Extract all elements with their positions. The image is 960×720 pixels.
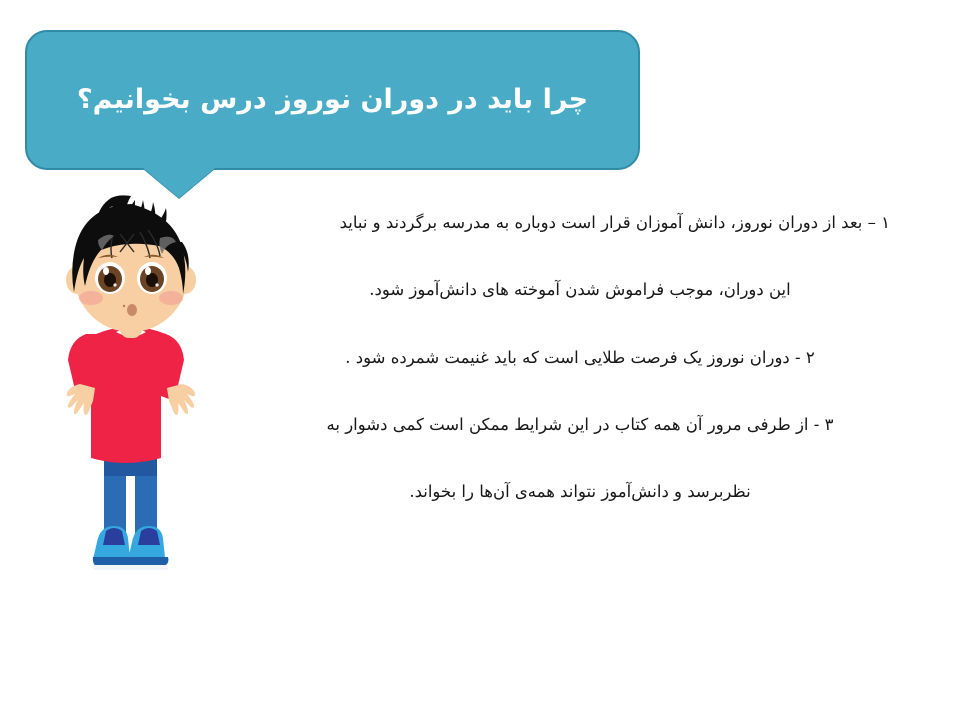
shoes-group (93, 526, 169, 570)
head-group (66, 195, 196, 332)
mouth (127, 304, 137, 316)
text-line: ۳ - از طرفی مرور آن همه کتاب در این شرای… (270, 414, 890, 436)
text-line: ۲ - دوران نوروز یک فرصت طلایی است که بای… (270, 347, 890, 369)
cartoon-boy-illustration (36, 186, 226, 596)
speech-bubble-body: چرا باید در دوران نوروز درس بخوانیم؟ (25, 30, 640, 170)
body-text-block: ۱ – بعد از دوران نوروز، دانش آموزان قرار… (270, 212, 890, 503)
text-line: نظربرسد و دانش‌آموز نتواند همه‌ی آن‌ها ر… (270, 481, 890, 503)
page-title: چرا باید در دوران نوروز درس بخوانیم؟ (51, 82, 614, 117)
text-line: ۱ – بعد از دوران نوروز، دانش آموزان قرار… (270, 212, 890, 234)
speech-bubble: چرا باید در دوران نوروز درس بخوانیم؟ (25, 30, 640, 170)
cheek-left (79, 291, 103, 305)
slide-canvas: چرا باید در دوران نوروز درس بخوانیم؟ (0, 0, 960, 720)
cheek-right (159, 291, 183, 305)
text-line: این دوران، موجب فراموش شدن آموخته های دا… (270, 279, 890, 301)
